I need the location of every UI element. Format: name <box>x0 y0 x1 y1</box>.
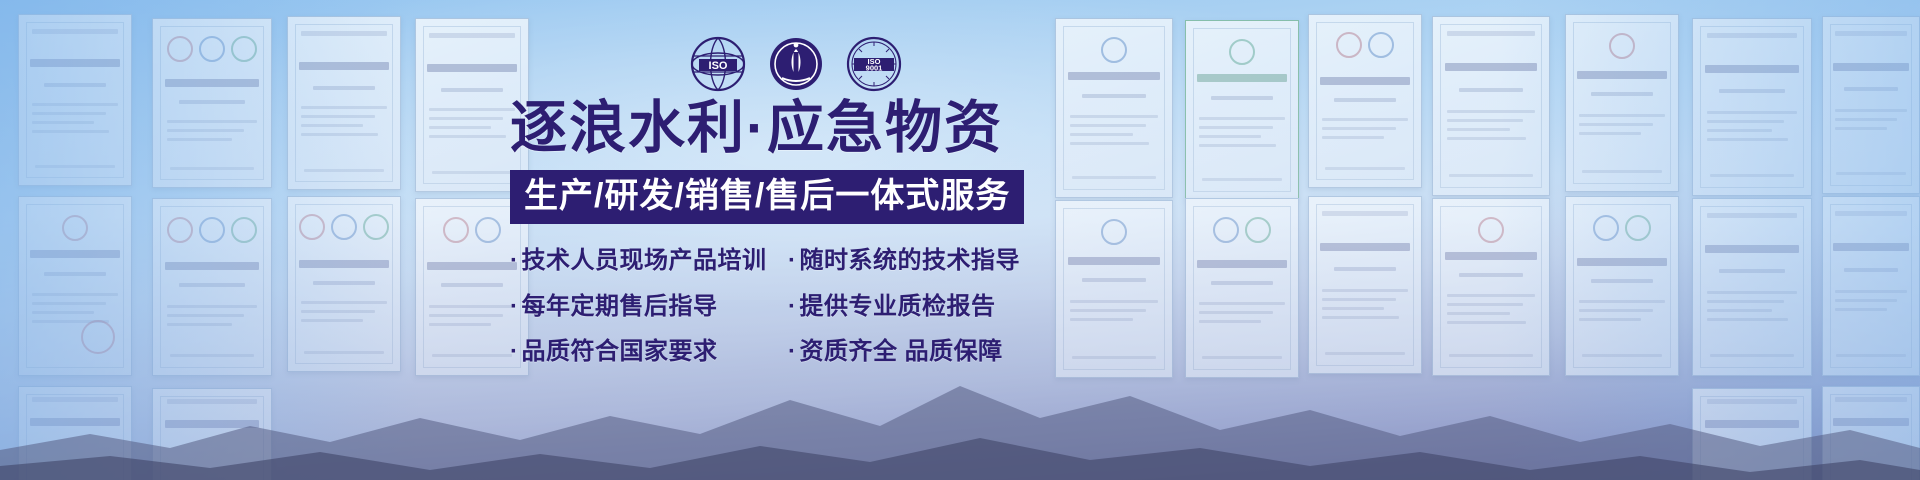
list-item: ·随时系统的技术指导 <box>788 248 1050 274</box>
feature-bullet-list: ·技术人员现场产品培训 ·随时系统的技术指导 ·每年定期售后指导 ·提供专业质检… <box>510 248 1080 365</box>
page-title: 逐浪水利·应急物资 <box>510 98 1080 158</box>
list-item-label: 每年定期售后指导 <box>522 293 718 320</box>
certification-emblems: ISO <box>690 36 902 92</box>
bullet-marker-icon: · <box>788 338 797 365</box>
bullet-marker-icon: · <box>510 247 519 274</box>
svg-text:ISO: ISO <box>709 60 728 72</box>
list-item-label: 品质符合国家要求 <box>522 338 718 365</box>
list-item-label: 技术人员现场产品培训 <box>522 247 767 274</box>
list-item-label: 资质齐全 品质保障 <box>800 338 1003 365</box>
bullet-marker-icon: · <box>788 247 797 274</box>
list-item-label: 提供专业质检报告 <box>800 293 996 320</box>
list-item-label: 随时系统的技术指导 <box>800 247 1021 274</box>
promo-banner: ISO <box>0 0 1920 480</box>
list-item: ·资质齐全 品质保障 <box>788 339 1050 365</box>
list-item: ·提供专业质检报告 <box>788 294 1050 320</box>
list-item: ·每年定期售后指导 <box>510 294 788 320</box>
banner-copy: 逐浪水利·应急物资 生产/研发/销售/售后一体式服务 ·技术人员现场产品培训 ·… <box>510 98 1080 366</box>
iso-9001-emblem: ISO 9001 <box>846 36 902 92</box>
svg-text:9001: 9001 <box>866 64 883 73</box>
service-subtitle-bar: 生产/研发/销售/售后一体式服务 <box>510 170 1024 224</box>
certificate-thumb <box>1185 20 1299 200</box>
list-item: ·技术人员现场产品培训 <box>510 248 788 274</box>
bullet-marker-icon: · <box>788 293 797 320</box>
quality-inspection-emblem <box>768 36 824 92</box>
iso-emblem: ISO <box>690 36 746 92</box>
bullet-marker-icon: · <box>510 293 519 320</box>
bullet-marker-icon: · <box>510 338 519 365</box>
list-item: ·品质符合国家要求 <box>510 339 788 365</box>
certificate-thumb <box>1308 14 1422 188</box>
